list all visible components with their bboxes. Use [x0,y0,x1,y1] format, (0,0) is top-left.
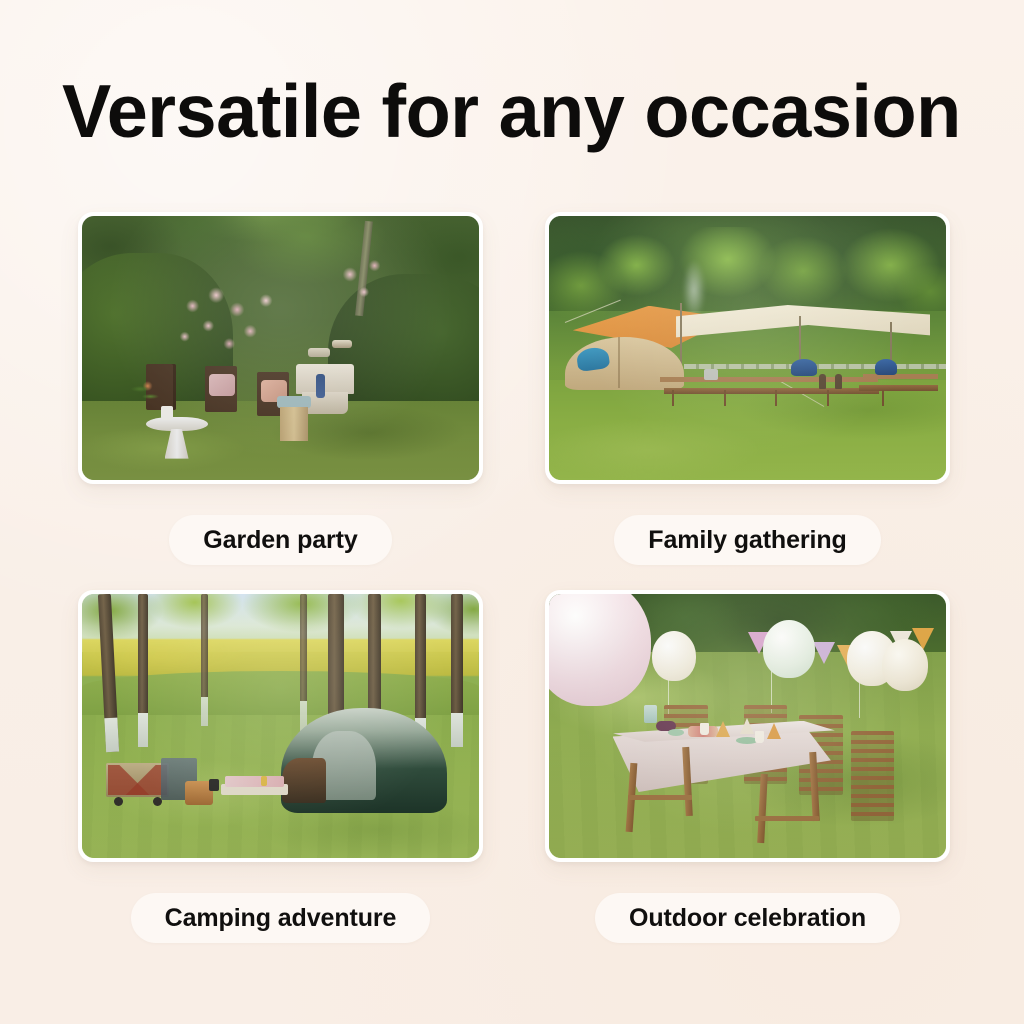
dressed-table [296,364,354,394]
person [819,374,826,389]
cake-stand [308,348,330,357]
mint-plate [668,729,684,736]
caption-row: Garden party [78,512,483,568]
drink-bottle [261,776,267,786]
cooler [704,369,718,380]
bunting-flag [813,642,835,664]
tent-seam [618,337,620,387]
picnic-bench [859,385,938,391]
table-leg [882,390,884,406]
tent-vestibule [282,758,326,803]
blue-bottle [316,374,325,398]
occasion-card-camping-adventure[interactable]: Camping adventure [78,590,483,946]
occasion-card-garden-party[interactable]: Garden party [78,212,483,568]
occasion-grid: Garden party [0,0,1024,1024]
balloon [763,620,815,678]
caption-outdoor-celebration: Outdoor celebration [595,893,900,943]
table-leg [672,390,674,406]
folding-wagon [106,763,170,797]
table-stretcher [755,816,819,821]
photo-frame [545,212,950,484]
balloon [652,631,696,681]
picnic-cloth [225,776,285,787]
mint-plate [736,737,758,744]
paper-cup [755,731,764,743]
picnic-table [863,374,938,379]
picnic-table [660,377,787,382]
table-leg [775,390,777,406]
person [835,374,842,389]
occasion-card-family-gathering[interactable]: Family gathering [545,212,950,568]
whitewashed-tree-trunk [300,594,307,731]
photo-frame [545,590,950,862]
wooden-stool [277,396,311,408]
caption-family-gathering: Family gathering [614,515,880,565]
hydrangea-blooms-upper [320,253,407,316]
wooden-folding-chair [851,731,895,821]
wagon-wheel [114,797,123,806]
table-leg [827,390,829,406]
camp-kettle [209,779,219,791]
versatile-occasions-page: Versatile for any occasion [0,0,1024,1024]
photo-frame [78,590,483,862]
whitewashed-tree-trunk [201,594,208,726]
blue-tent [791,359,817,376]
whitewashed-tree-trunk [138,594,148,747]
hydrangea-blooms [169,279,300,369]
caption-camping-adventure: Camping adventure [131,893,431,943]
table-stretcher [628,795,692,800]
camping-adventure-photo [82,594,479,858]
table-leg [724,390,726,406]
occasion-card-outdoor-celebration[interactable]: Outdoor celebration [545,590,950,946]
photo-frame [78,212,483,484]
family-gathering-photo [549,216,946,480]
paper-cup [700,723,709,735]
whitewashed-tree-trunk [451,594,463,747]
caption-row: Camping adventure [78,890,483,946]
party-hat [716,721,730,737]
party-hat [740,718,754,734]
outdoor-celebration-photo [549,594,946,858]
party-hat [767,723,781,739]
caption-row: Outdoor celebration [545,890,950,946]
blue-tent [875,359,897,375]
potted-fern [130,380,164,410]
cake-stand [332,340,352,348]
cushion [209,374,235,396]
balloon [882,639,928,691]
garden-party-photo [82,216,479,480]
caption-row: Family gathering [545,512,950,568]
white-pedestal-table [146,417,208,431]
caption-garden-party: Garden party [169,515,391,565]
grass-field [549,380,946,480]
drink-jar [644,705,657,723]
